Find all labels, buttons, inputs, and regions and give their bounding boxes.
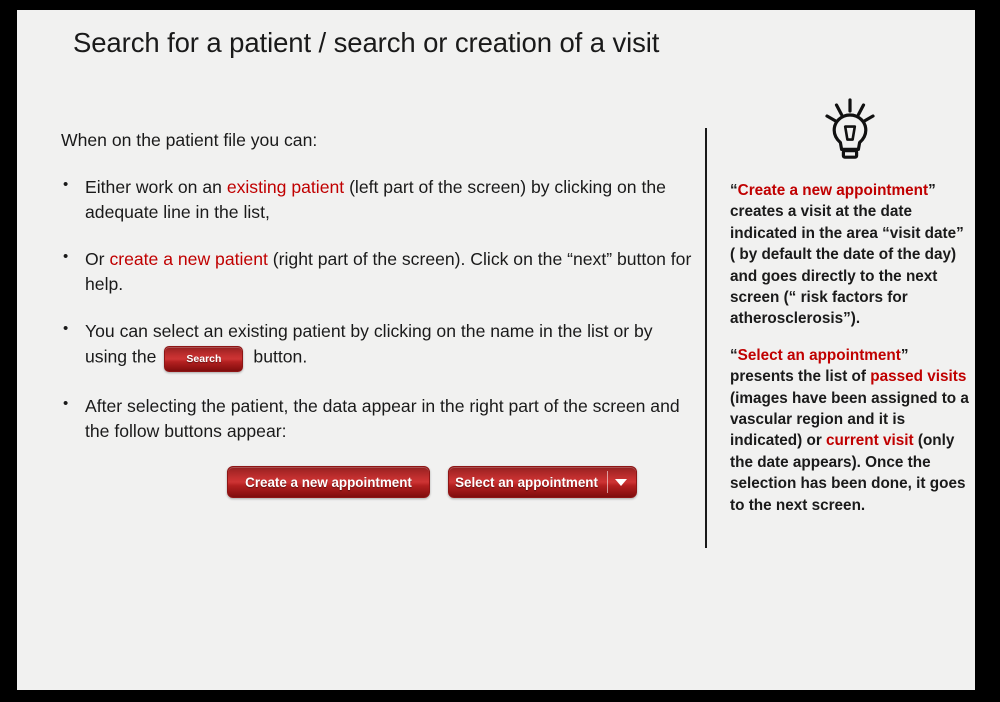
vertical-divider xyxy=(705,128,707,548)
slide-canvas: Search for a patient / search or creatio… xyxy=(17,10,975,690)
intro-text: When on the patient file you can: xyxy=(61,128,696,153)
slide-frame: Search for a patient / search or creatio… xyxy=(0,0,1000,702)
tip-1-quote-open: “ xyxy=(730,182,738,199)
bullet-1-highlight: existing patient xyxy=(227,177,344,197)
bullet-1-pre: Either work on an xyxy=(85,177,227,197)
body-content: When on the patient file you can: Either… xyxy=(61,128,696,500)
bullet-4-text: After selecting the patient, the data ap… xyxy=(85,396,680,441)
button-divider xyxy=(607,471,608,493)
bullet-existing-patient: Either work on an existing patient (left… xyxy=(61,175,696,225)
select-appointment-label: Select an appointment xyxy=(455,475,598,490)
search-button-wrap: Search xyxy=(164,344,243,372)
tip-2-seg-1: presents the list of xyxy=(730,368,870,385)
bullet-2-pre: Or xyxy=(85,249,109,269)
appointment-buttons-row: Create a new appointmentSelect an appoin… xyxy=(227,466,696,500)
tip-1-highlight: Create a new appointment xyxy=(738,182,928,199)
tip-2-quote-close: ” xyxy=(901,347,909,364)
tip-paragraph-1: “Create a new appointment” creates a vis… xyxy=(730,180,970,330)
create-a-new-appointment-button[interactable]: Create a new appointment xyxy=(227,466,430,498)
tip-text-block: “Create a new appointment” creates a vis… xyxy=(730,180,970,516)
select-an-appointment-button[interactable]: Select an appointment xyxy=(448,466,637,498)
tip-2-highlight: Select an appointment xyxy=(738,347,901,364)
tip-2-red-1: passed visits xyxy=(870,368,966,385)
tip-1-quote-close: ” xyxy=(928,182,936,199)
search-button[interactable]: Search xyxy=(164,346,243,372)
bullet-after-selecting: After selecting the patient, the data ap… xyxy=(61,394,696,500)
tip-2-quote-open: “ xyxy=(730,347,738,364)
lightbulb-icon xyxy=(822,98,878,160)
bullet-create-patient: Or create a new patient (right part of t… xyxy=(61,247,696,297)
bullet-2-highlight: create a new patient xyxy=(109,249,267,269)
tip-2-red-2: current visit xyxy=(826,432,914,449)
bullet-list: Either work on an existing patient (left… xyxy=(61,175,696,500)
chevron-down-icon[interactable] xyxy=(615,479,627,486)
bullet-select-patient: You can select an existing patient by cl… xyxy=(61,319,696,372)
tip-paragraph-2: “Select an appointment” presents the lis… xyxy=(730,345,970,516)
page-title: Search for a patient / search or creatio… xyxy=(73,26,893,59)
tip-1-rest: creates a visit at the date indicated in… xyxy=(730,203,964,327)
bullet-3-post: button. xyxy=(253,346,307,366)
